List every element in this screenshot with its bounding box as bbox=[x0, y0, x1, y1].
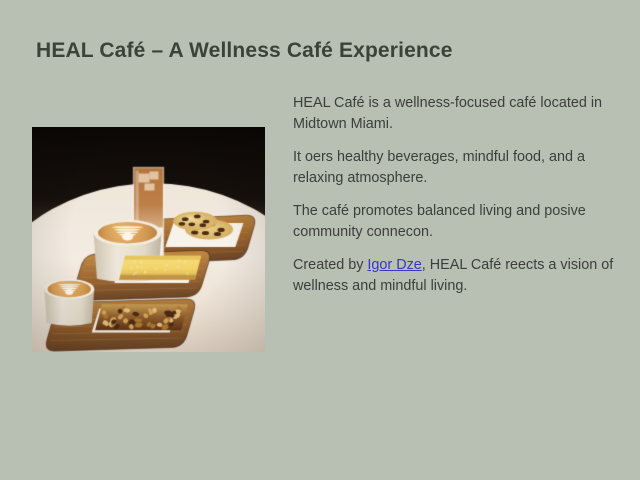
hyperlink-igor-dze[interactable]: Igor Dze bbox=[367, 257, 421, 273]
presentation-slide: HEAL Café – A Wellness Café Experience H… bbox=[0, 0, 640, 480]
paragraph-promotes: The café promotes balanced living and po… bbox=[293, 201, 629, 242]
page-title: HEAL Café – A Wellness Café Experience bbox=[36, 38, 596, 64]
cafe-tray-photo bbox=[32, 127, 265, 352]
cafe-tray-photo-canvas bbox=[32, 127, 265, 352]
body-text-block: HEAL Café is a wellness-focused café loc… bbox=[293, 93, 629, 296]
paragraph-offers: It oers healthy beverages, mindful food,… bbox=[293, 147, 629, 188]
paragraph-credit: Created by Igor Dze, HEAL Café reects a … bbox=[293, 255, 629, 296]
paragraph-intro: HEAL Café is a wellness-focused café loc… bbox=[293, 93, 629, 134]
